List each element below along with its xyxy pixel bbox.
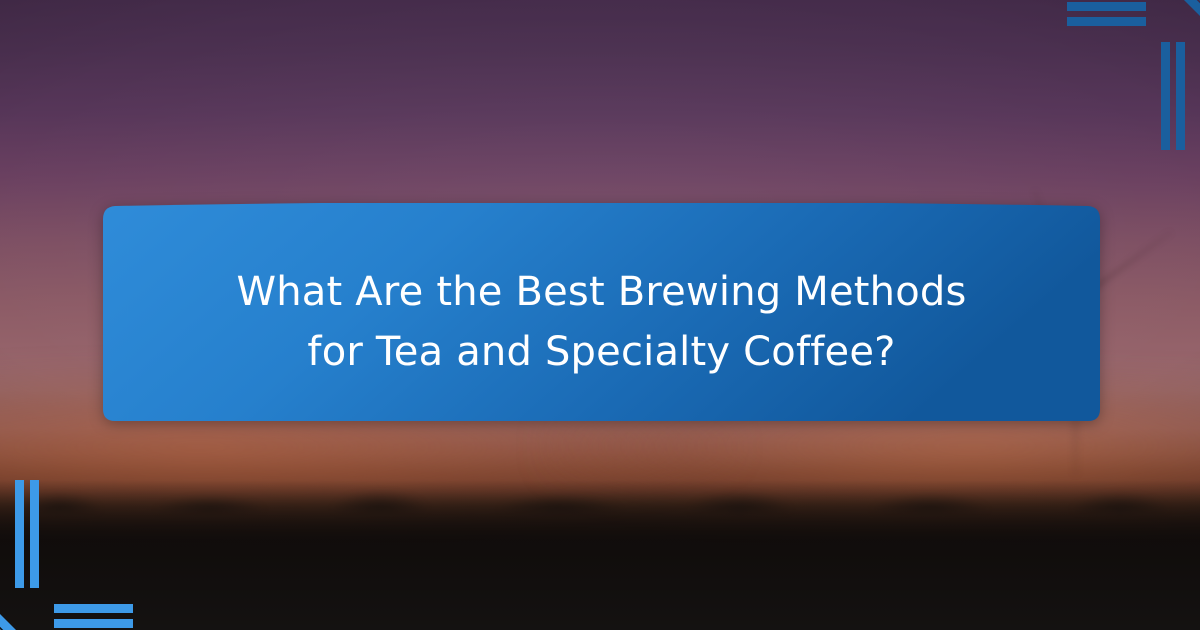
page-title: What Are the Best Brewing Methods for Te… [222,262,982,382]
ground-silhouette [0,480,1200,630]
title-text-wrapper: What Are the Best Brewing Methods for Te… [103,203,1100,423]
title-card: What Are the Best Brewing Methods for Te… [103,203,1100,423]
title-card-canvas: What Are the Best Brewing Methods for Te… [0,0,1200,630]
